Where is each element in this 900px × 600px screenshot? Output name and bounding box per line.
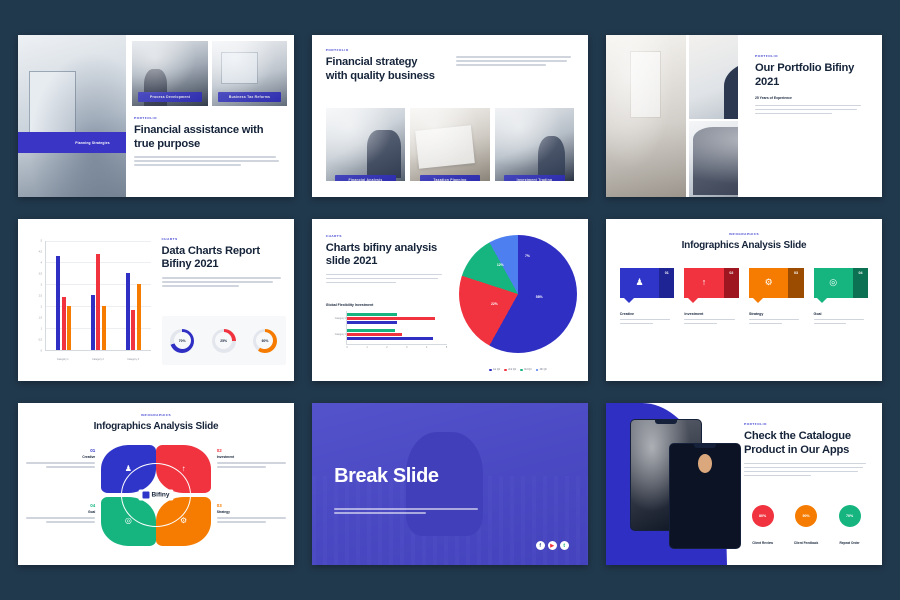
bar-group [126,241,141,350]
y-tick: 0.5 [39,338,42,341]
slide-our-portfolio[interactable]: PORTFOLIO Our Portfolio Bifiny 2021 25 Y… [606,35,882,197]
bar [347,329,395,332]
info-card-number: 01 [659,268,674,298]
bar-group [56,241,71,350]
info-card-number: 03 [788,268,803,298]
y-tick: 5 [41,239,42,242]
y-tick: Category 2 [335,317,347,320]
slide1-eyebrow: PORTFOLIO [134,116,282,120]
info-card-text: Strategy [749,312,804,325]
slide-infographics-cards[interactable]: INFOGRAPHICS Infographics Analysis Slide… [606,219,882,381]
petal-number: 02 [217,448,286,453]
stat-group: 80% Client Review 90% Client Feedback 70… [744,505,868,549]
slide7-head: INFOGRAPHICS Infographics Analysis Slide [18,413,294,433]
petal-number: 03 [217,503,286,508]
phone-front [669,443,741,549]
legend-item: 2nd Qtr [504,368,516,371]
slide-charts-analysis[interactable]: CHARTS Charts bifiny analysis slide 2021… [312,219,588,381]
slide2-tag-3[interactable]: Investment Trading [504,175,564,181]
bar-group: Category 2 [347,313,447,326]
bar [347,317,435,320]
x-tick: 1 [366,346,367,349]
donut-chart-2: 25% [212,329,236,353]
slide3-eyebrow: PORTFOLIO [755,54,865,58]
x-tick: Category 1 [57,358,69,361]
stat-label: Client Feedback [794,541,818,545]
petal-title: Investment [217,455,286,459]
stat-value: 80% [752,505,774,527]
pie-label: 58% [536,295,543,299]
info-card-investment[interactable]: ↑ 02 Investment [684,268,739,327]
slide1-badge-label: Planning Strategies [75,141,110,145]
y-tick: 1.5 [39,316,42,319]
pie-chart-legend: 1st Qtr 2nd Qtr 3rd Qtr 4th Qtr [459,368,577,371]
stat-value: 70% [839,505,861,527]
slide1-body: Fusce vehicula dolor arcu, sit amet blan… [134,156,282,166]
petal-number: 01 [26,448,95,453]
petal-title: Strategy [217,510,286,514]
legend-item: 3rd Qtr [520,368,531,371]
bar-chart-plot [45,241,151,351]
stat-repeat-order: 70% Repeat Order [831,505,868,549]
slide3-photo-left [606,35,686,197]
horizontal-bar-chart: Global Flexibility Investment Category 2… [326,303,447,349]
y-tick: Category 1 [335,333,347,336]
slide8-title: Break Slide [334,465,439,488]
pie-label: 22% [491,302,498,306]
horizontal-bar-chart-title: Global Flexibility Investment [326,303,447,307]
slide3-card: PORTFOLIO Our Portfolio Bifiny 2021 25 Y… [738,35,882,197]
petal-label-creative: 01 Creative Fusce vehicula dolor arcu, s… [26,448,95,470]
petal-label-goal: 04 Goal [26,503,95,525]
slide1-copy: PORTFOLIO Financial assistance with true… [134,116,282,168]
horizontal-bar-plot: Category 2 Category 1 [346,311,447,345]
target-icon: ◎ [829,278,837,287]
slide1-photo-left [18,35,126,197]
slide9-copy: PORTFOLIO Check the Catalogue Product in… [744,422,868,478]
slide6-card-row: ♟ 01 Creative Fusce vehicula dolor arcu,… [620,268,868,327]
stat-label: Repeat Order [839,541,859,545]
youtube-icon[interactable]: ▶ [548,541,557,550]
petal-title: Creative [26,455,95,459]
slide6-title: Infographics Analysis Slide [606,240,882,252]
slide1-title: Financial assistance with true purpose [134,124,282,151]
slide1-image-row: Process Development Business Tax Reforms [132,41,287,106]
slide1-photo-2: Business Tax Reforms [212,41,287,106]
bar [67,306,71,350]
bar [347,321,397,324]
slide-financial-strategy[interactable]: PORTFOLIO Financial strategy with qualit… [312,35,588,197]
slide1-tag-1[interactable]: Process Development [138,92,201,102]
growth-icon: ↑ [182,465,186,473]
info-card-label: Creative [620,312,675,316]
legend-label: 4th Qtr [540,368,547,371]
x-tick: 0 [346,346,347,349]
x-tick: Category 2 [92,358,104,361]
petal-label-strategy: 03 Strategy [217,503,286,525]
x-tick: 3 [406,346,407,349]
slide1-tag-2[interactable]: Business Tax Reforms [218,92,281,102]
x-tick: 4 [426,346,427,349]
slide5-eyebrow: CHARTS [326,234,447,238]
petal-number: 04 [26,503,95,508]
petal-diagram: ♟ ↑ ◎ ⚙ Bifiny [101,445,211,545]
slide-financial-assistance[interactable]: Planning Strategies Process Development … [18,35,294,197]
target-icon: ◎ [125,517,132,525]
bar-group: Category 1 [347,329,447,342]
info-card-box: ↑ 02 [684,268,739,298]
y-tick: 0 [41,349,42,352]
y-tick: 4 [41,261,42,264]
horizontal-bar-x-axis: 0 1 2 3 4 5 [346,346,447,349]
info-card-label: Investment [684,312,739,316]
slide9-eyebrow: PORTFOLIO [744,422,868,426]
info-card-text: Creative Fusce vehicula dolor arcu, sit … [620,312,675,325]
info-card-creative[interactable]: ♟ 01 Creative Fusce vehicula dolor arcu,… [620,268,675,327]
pie-label: 7% [525,254,530,258]
slide6-eyebrow: INFOGRAPHICS [606,232,882,236]
slide9-body: Fusce vehicula dolor arcu, sit amet blan… [744,463,868,477]
slide2-photo-1: Financial Analysis [326,108,405,181]
slide2-image-row: Financial Analysis Taxation Planning Inv… [326,108,574,181]
slide3-subtitle: 25 Years of Experience [755,96,865,100]
bar [347,333,402,336]
phone-mockups [625,419,741,549]
donut-chart-3: 60% [253,329,277,353]
donut-value: 60% [262,339,269,343]
slide-catalogue[interactable]: PORTFOLIO Check the Catalogue Product in… [606,403,882,565]
users-icon: ♟ [635,278,643,287]
slide2-eyebrow: PORTFOLIO [326,48,442,52]
bar-group [91,241,106,350]
info-card-strategy[interactable]: ⚙ 03 Strategy [749,268,804,327]
bar-chart-x-axis: Category 1 Category 2 Category 3 [45,358,151,361]
bar [137,284,141,350]
x-tick: 2 [386,346,387,349]
slide4-eyebrow: CHARTS [162,237,286,241]
bar [347,337,433,340]
slide2-head: PORTFOLIO Financial strategy with qualit… [326,48,442,83]
bar [62,297,66,349]
bar-chart-y-axis: 0 0.5 1 1.5 2 2.5 3 3.5 4 4.5 5 [29,241,44,351]
slide2-body: Fusce vehicula dolor arcu, sit amet blan… [456,56,572,68]
pie-chart: 58% 22% 12% 7% [459,235,577,353]
info-card-goal[interactable]: ◎ 04 Goal [814,268,869,327]
y-tick: 3 [41,283,42,286]
slide8-body: Fusce vehicula dolor arcu, sit amet blan… [334,508,478,516]
stat-label: Client Review [752,541,773,545]
donut-value: 25% [220,339,227,343]
info-card-label: Strategy [749,312,804,316]
bar [96,254,100,350]
slide4-copy: CHARTS Data Charts Report Bifiny 2021 Fu… [162,237,286,289]
info-card-number: 02 [724,268,739,298]
info-card-text: Investment [684,312,739,325]
slide-data-charts-report[interactable]: 0 0.5 1 1.5 2 2.5 3 3.5 4 4.5 5 [18,219,294,381]
x-tick: Category 3 [127,358,139,361]
legend-item: 1st Qtr [489,368,500,371]
bar [126,273,130,349]
bar-chart-bars [46,241,151,350]
slide2-photo-3: Investment Trading [495,108,574,181]
y-tick: 2 [41,305,42,308]
pie-slices [459,235,577,353]
facebook-icon[interactable]: f [536,541,545,550]
donut-chart-group: 70% 25% 60% [162,316,286,365]
logo-text: Bifiny [151,492,169,499]
slide2-tag-2[interactable]: Taxation Planning [420,175,480,181]
y-tick: 4.5 [39,250,42,253]
slide9-title: Check the Catalogue Product in Our Apps [744,430,868,457]
twitter-icon[interactable]: t [560,541,569,550]
legend-label: 2nd Qtr [508,368,516,371]
slide7-eyebrow: INFOGRAPHICS [18,413,294,417]
slide5-title: Charts bifiny analysis slide 2021 [326,242,447,269]
stat-client-feedback: 90% Client Feedback [787,505,824,549]
slide5-copy: CHARTS Charts bifiny analysis slide 2021… [326,234,447,286]
slide2-tag-1[interactable]: Financial Analysis [335,175,395,181]
slide2-photo-2: Taxation Planning [410,108,489,181]
slide-infographics-petals[interactable]: INFOGRAPHICS Infographics Analysis Slide… [18,403,294,565]
stat-value: 90% [795,505,817,527]
bar [102,306,106,350]
legend-label: 3rd Qtr [524,368,531,371]
info-card-box: ◎ 04 [814,268,869,298]
y-tick: 3.5 [39,272,42,275]
info-card-text: Goal [814,312,869,325]
petal-title: Goal [26,510,95,514]
bar [347,313,397,316]
legend-item: 4th Qtr [536,368,547,371]
info-card-box: ⚙ 03 [749,268,804,298]
info-card-label: Goal [814,312,869,316]
donut-value: 70% [179,339,186,343]
slide3-title: Our Portfolio Bifiny 2021 [755,62,865,89]
growth-icon: ↑ [702,278,707,287]
slide6-head: INFOGRAPHICS Infographics Analysis Slide [606,232,882,252]
donut-chart-1: 70% [170,329,194,353]
slide2-title: Financial strategy with quality business [326,56,442,83]
bar [91,295,95,350]
social-links: f ▶ t [536,541,569,550]
slide1-photo-1: Process Development [132,41,207,106]
stat-client-review: 80% Client Review [744,505,781,549]
logo-mark [142,492,149,499]
slide-grid: Planning Strategies Process Development … [0,0,900,600]
y-tick: 1 [41,327,42,330]
petal-label-investment: 02 Investment [217,448,286,470]
info-card-number: 04 [853,268,868,298]
slide4-body: Fusce vehicula dolor arcu, sit amet blan… [162,277,286,287]
bar [56,256,60,350]
slide3-body: Fusce vehicula dolor arcu, sit amet blan… [755,105,865,115]
puzzle-icon: ⚙ [180,517,187,525]
puzzle-icon: ⚙ [765,278,773,287]
slide5-body: Fusce vehicula dolor arcu, sit amet blan… [326,274,447,284]
slide7-title: Infographics Analysis Slide [18,421,294,433]
info-card-box: ♟ 01 [620,268,675,298]
y-tick: 2.5 [39,294,42,297]
pie-label: 12% [497,263,504,267]
brand-logo: Bifiny [138,490,173,501]
x-tick: 5 [446,346,447,349]
slide1-content: Process Development Business Tax Reforms… [126,35,294,197]
legend-label: 1st Qtr [493,368,500,371]
slide4-title: Data Charts Report Bifiny 2021 [162,245,286,272]
bar-chart: 0 0.5 1 1.5 2 2.5 3 3.5 4 4.5 5 [29,235,153,368]
slide-break[interactable]: Break Slide Fusce vehicula dolor arcu, s… [312,403,588,565]
bar [131,310,135,349]
